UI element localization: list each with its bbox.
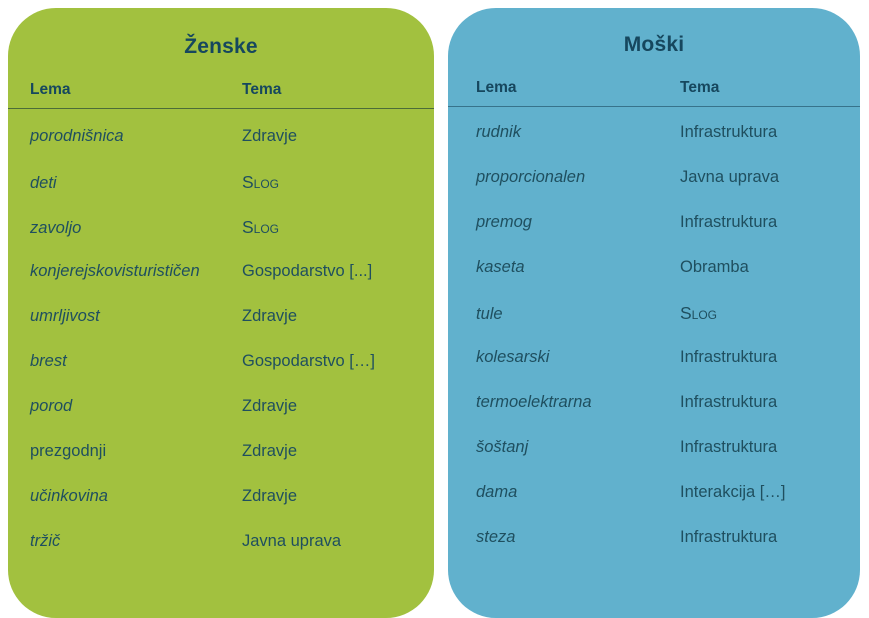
table-row: stezaInfrastruktura [476,528,860,573]
cell-lema: dama [476,483,680,502]
lemma-topic-comparison-board: Ženske Lema Tema porodnišnicaZdravjedeti… [0,0,869,606]
table-zenske: Lema Tema porodnišnicaZdravjedetiSlogzav… [8,81,434,577]
table-header-moski: Lema Tema [476,79,860,106]
cell-lema: brest [30,352,242,371]
column-header-lema: Lema [476,79,680,97]
panel-moski: Moški Lema Tema rudnikInfrastrukturaprop… [448,8,860,618]
cell-lema: porodnišnica [30,127,242,146]
table-row: rudnikInfrastruktura [476,123,860,168]
table-row: zavoljoSlog [30,217,434,262]
table-row: prezgodnjiZdravje [30,442,434,487]
cell-tema: Infrastruktura [680,348,777,367]
cell-lema: steza [476,528,680,547]
column-header-tema: Tema [242,81,281,99]
table-row: proporcionalenJavna uprava [476,168,860,213]
cell-lema: rudnik [476,123,680,142]
header-divider [8,108,434,109]
cell-tema: Infrastruktura [680,213,777,232]
table-body-moski: rudnikInfrastrukturaproporcionalenJavna … [476,107,860,573]
table-row: kasetaObramba [476,258,860,303]
cell-tema: Slog [242,172,279,193]
cell-tema: Zdravje [242,127,297,146]
table-row: umrljivostZdravje [30,307,434,352]
cell-tema: Gospodarstvo [...] [242,262,372,281]
cell-tema: Slog [242,217,279,238]
table-row: kolesarskiInfrastruktura [476,348,860,393]
cell-lema: zavoljo [30,219,242,238]
table-row: tržičJavna uprava [30,532,434,577]
cell-lema: tržič [30,532,242,551]
table-row: porodnišnicaZdravje [30,127,434,172]
table-row: premogInfrastruktura [476,213,860,258]
column-header-tema: Tema [680,79,719,97]
table-row: brestGospodarstvo […] [30,352,434,397]
cell-tema: Infrastruktura [680,438,777,457]
table-row: damaInterakcija […] [476,483,860,528]
cell-tema: Infrastruktura [680,528,777,547]
table-row: tuleSlog [476,303,860,348]
table-row: termoelektrarnaInfrastruktura [476,393,860,438]
table-row: šoštanjInfrastruktura [476,438,860,483]
cell-lema: prezgodnji [30,442,242,461]
panel-zenske: Ženske Lema Tema porodnišnicaZdravjedeti… [8,8,434,618]
cell-lema: deti [30,174,242,193]
cell-tema: Slog [680,303,717,324]
cell-tema: Zdravje [242,487,297,506]
cell-tema: Obramba [680,258,749,277]
panel-title-zenske: Ženske [8,35,434,59]
panel-title-moski: Moški [448,33,860,57]
column-header-lema: Lema [30,81,242,99]
cell-lema: kolesarski [476,348,680,367]
cell-lema: kaseta [476,258,680,277]
cell-tema: Infrastruktura [680,393,777,412]
table-row: detiSlog [30,172,434,217]
cell-tema: Zdravje [242,397,297,416]
cell-tema: Javna uprava [680,168,779,187]
cell-tema: Interakcija […] [680,483,785,502]
cell-lema: umrljivost [30,307,242,326]
cell-lema: tule [476,305,680,324]
table-header-zenske: Lema Tema [30,81,434,108]
table-row: konjerejskovisturističenGospodarstvo [..… [30,262,434,307]
table-row: porodZdravje [30,397,434,442]
cell-tema: Zdravje [242,307,297,326]
cell-lema: proporcionalen [476,168,680,187]
cell-lema: termoelektrarna [476,393,680,412]
header-divider [448,106,860,107]
cell-tema: Gospodarstvo […] [242,352,375,371]
cell-lema: konjerejskovisturističen [30,262,242,281]
cell-lema: šoštanj [476,438,680,457]
cell-lema: premog [476,213,680,232]
cell-tema: Javna uprava [242,532,341,551]
table-body-zenske: porodnišnicaZdravjedetiSlogzavoljoSlogko… [30,109,434,577]
cell-lema: učinkovina [30,487,242,506]
cell-lema: porod [30,397,242,416]
cell-tema: Infrastruktura [680,123,777,142]
table-moski: Lema Tema rudnikInfrastrukturaproporcion… [448,79,860,573]
cell-tema: Zdravje [242,442,297,461]
table-row: učinkovinaZdravje [30,487,434,532]
